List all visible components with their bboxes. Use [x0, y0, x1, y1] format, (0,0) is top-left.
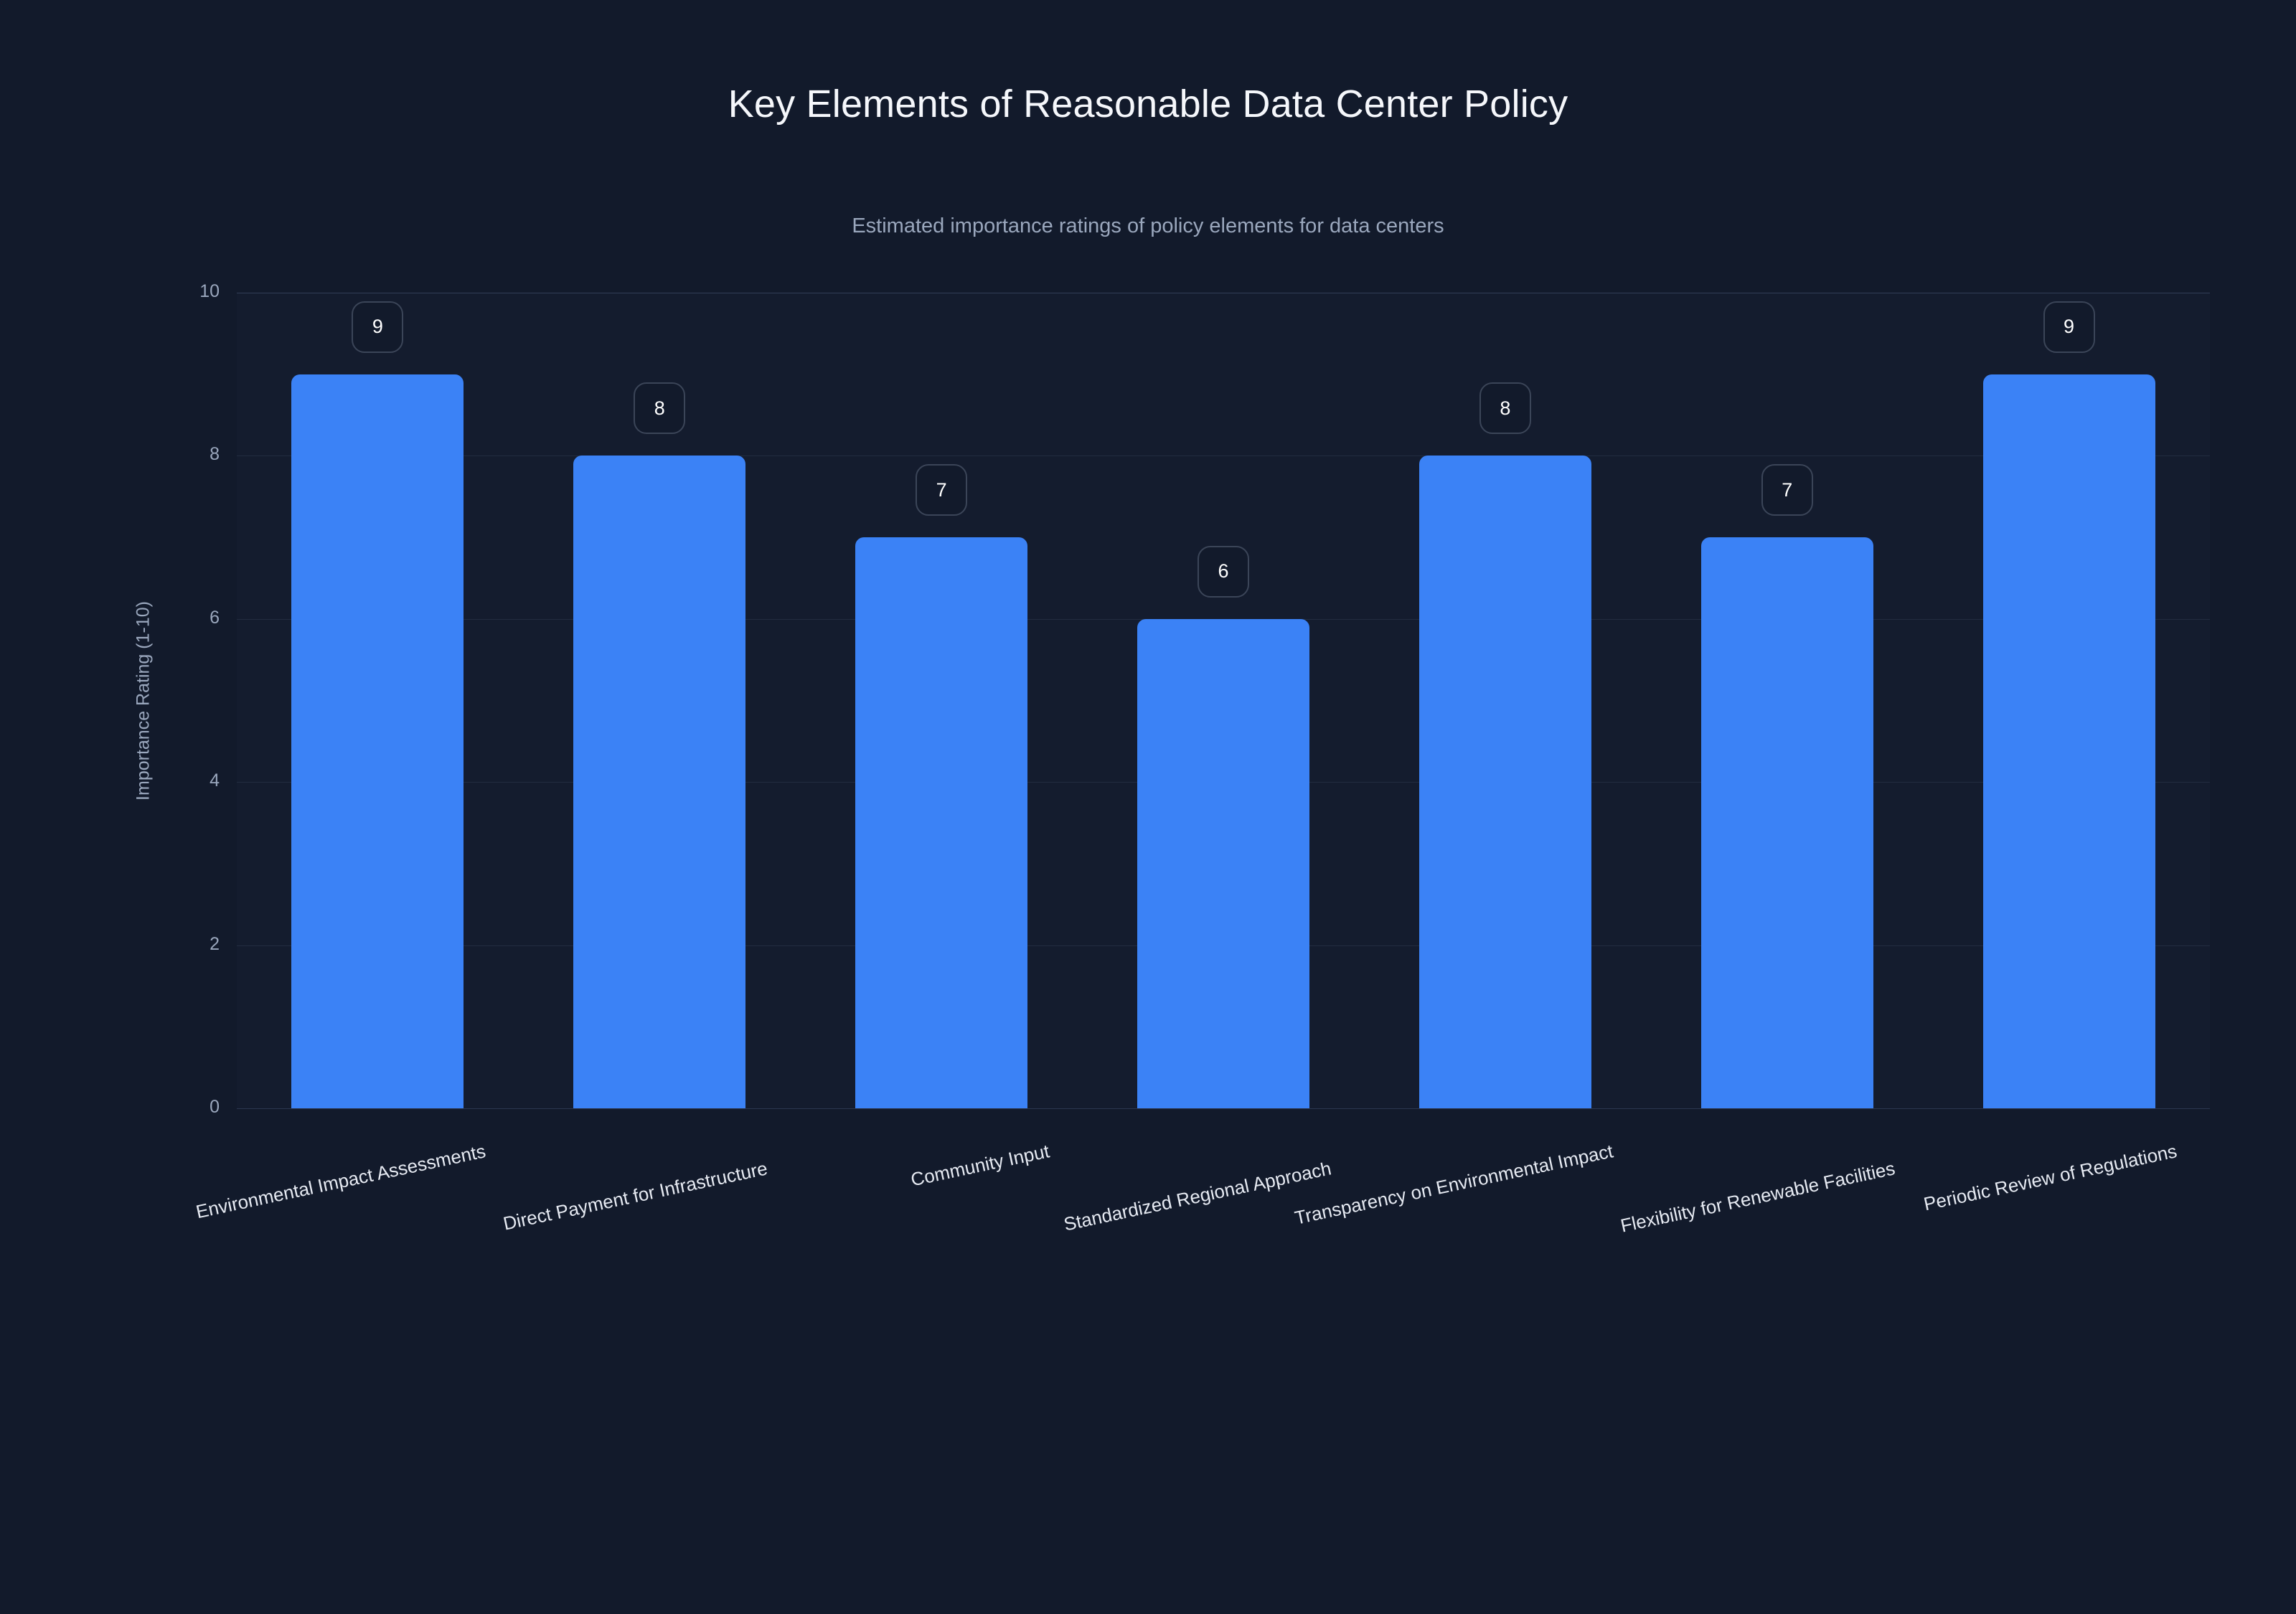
y-axis-tick-label: 4: [158, 770, 220, 791]
bar-value-label: 8: [1479, 382, 1531, 434]
y-axis-title: Importance Rating (1-10): [133, 601, 154, 801]
bar[interactable]: [291, 374, 464, 1108]
y-axis-tick-label: 2: [158, 934, 220, 955]
gridline: [237, 293, 2210, 293]
bar-value-label: 7: [1761, 464, 1813, 516]
bar-value-label: 9: [2043, 301, 2095, 353]
plot-area: [237, 293, 2210, 1108]
x-axis-tick-label: Flexibility for Renewable Facilities: [39, 1157, 1896, 1572]
bar-value-label: 9: [352, 301, 403, 353]
bar[interactable]: [573, 456, 745, 1108]
y-axis-tick-label: 10: [158, 281, 220, 302]
y-axis-tick-label: 6: [158, 608, 220, 628]
bar-value-label: 6: [1198, 546, 1249, 598]
bar[interactable]: [1983, 374, 2155, 1108]
bar[interactable]: [855, 537, 1027, 1108]
bar-value-label: 7: [916, 464, 967, 516]
y-axis-tick-label: 0: [158, 1097, 220, 1118]
bar[interactable]: [1137, 619, 1309, 1108]
bar[interactable]: [1419, 456, 1591, 1108]
bar-value-label: 8: [634, 382, 685, 434]
chart-subtitle: Estimated importance ratings of policy e…: [0, 215, 2296, 238]
bar[interactable]: [1701, 537, 1873, 1108]
chart-title: Key Elements of Reasonable Data Center P…: [0, 83, 2296, 126]
gridline: [237, 1108, 2210, 1109]
y-axis-tick-label: 8: [158, 444, 220, 465]
chart-canvas: Key Elements of Reasonable Data Center P…: [0, 0, 2296, 1291]
gridline: [237, 456, 2210, 456]
